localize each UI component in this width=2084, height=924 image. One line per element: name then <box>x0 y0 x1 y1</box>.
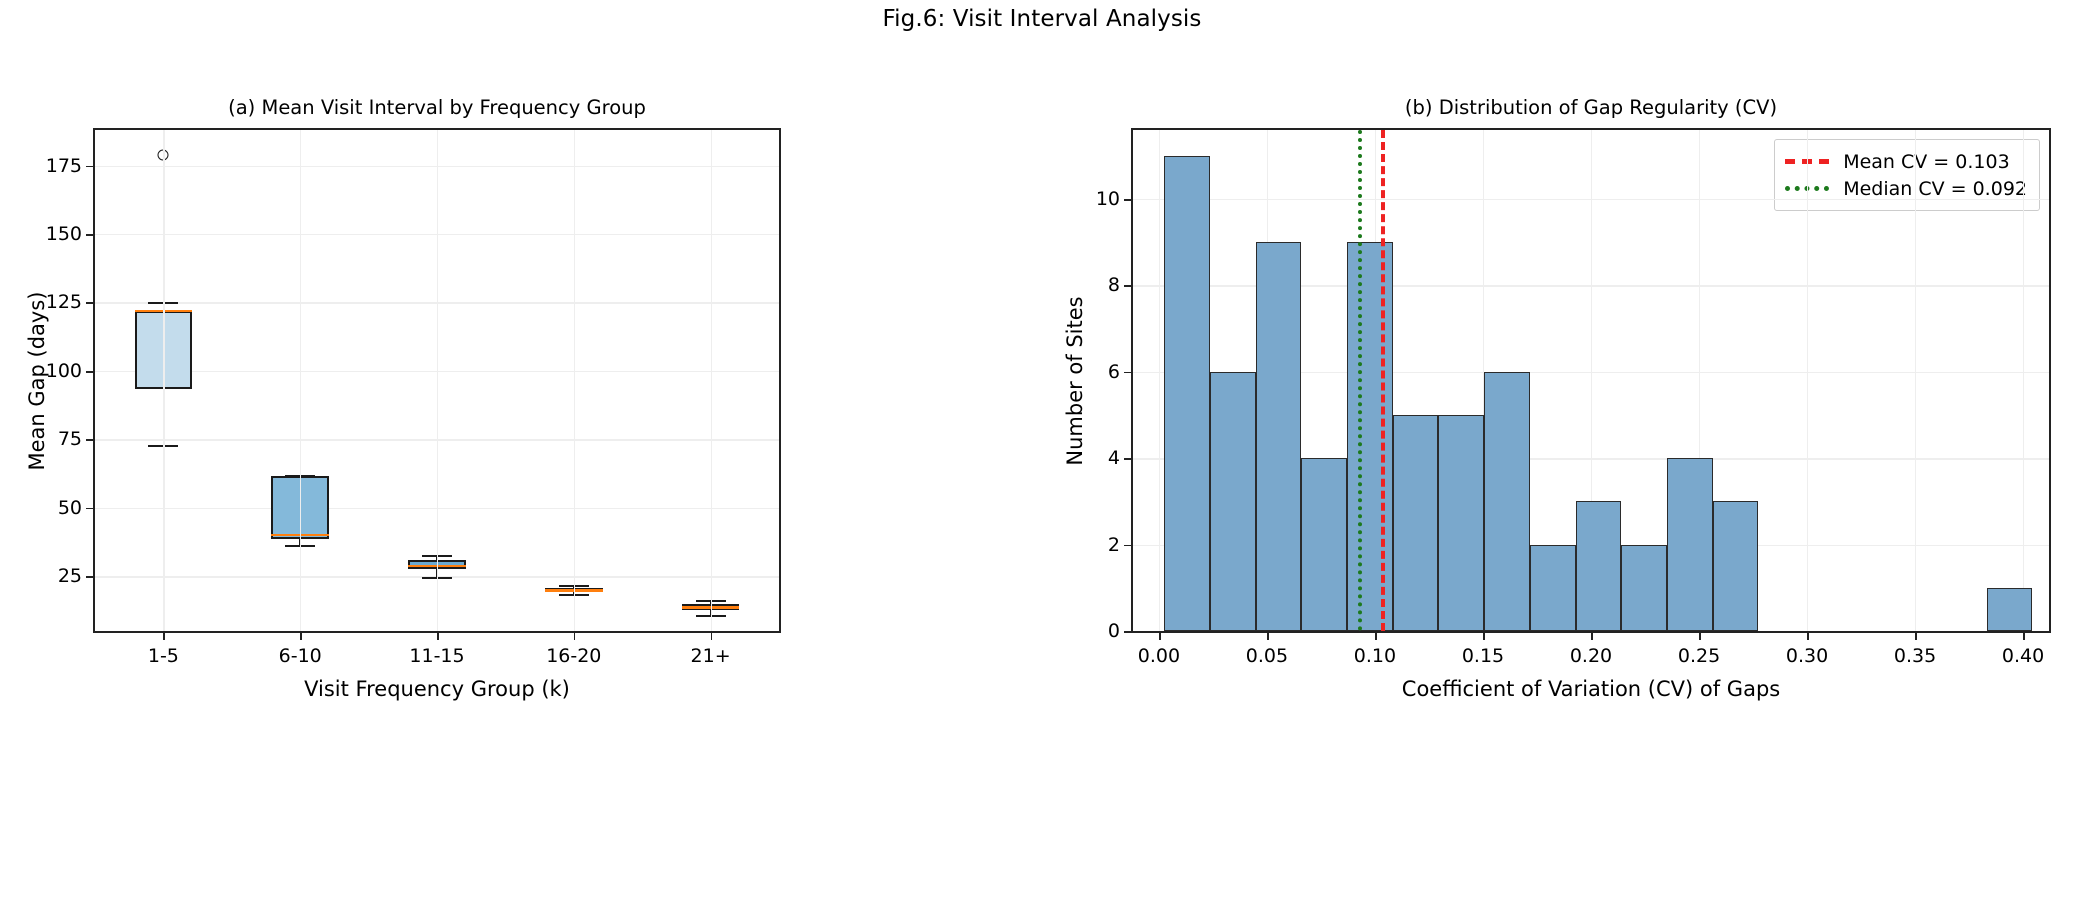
y-tick-mark <box>86 371 93 373</box>
y-tick-mark <box>1124 545 1131 547</box>
y-tick-mark <box>86 576 93 578</box>
legend-entry-label: Median CV = 0.092 <box>1843 178 2027 200</box>
y-tick-label: 125 <box>46 291 82 313</box>
median-cv-line <box>1358 130 1362 631</box>
x-tick-mark <box>1267 633 1269 640</box>
y-tick-label: 8 <box>1108 274 1120 296</box>
gridline-vertical <box>1807 130 1808 631</box>
y-tick-label: 6 <box>1108 361 1120 383</box>
x-tick-label: 0.10 <box>1354 645 1396 667</box>
y-tick-mark <box>86 166 93 168</box>
histogram-bar <box>1256 242 1302 631</box>
y-tick-label: 75 <box>58 428 82 450</box>
legend-entry: Mean CV = 0.103 <box>1785 148 2027 175</box>
x-tick-mark <box>1915 633 1917 640</box>
y-tick-mark <box>86 302 93 304</box>
x-tick-mark <box>300 633 302 640</box>
figure-suptitle: Fig.6: Visit Interval Analysis <box>0 6 2084 32</box>
panel-a-boxplot: (a) Mean Visit Interval by Frequency Gro… <box>93 128 781 633</box>
panel-b-y-axis-label: Number of Sites <box>1063 296 1087 465</box>
panel-b-histogram: (b) Distribution of Gap Regularity (CV) … <box>1131 128 2051 633</box>
x-tick-label: 21+ <box>691 645 731 667</box>
panel-b-x-axis-label: Coefficient of Variation (CV) of Gaps <box>1131 677 2051 701</box>
y-tick-label: 10 <box>1096 188 1120 210</box>
x-tick-label: 0.15 <box>1462 645 1504 667</box>
legend-entry-label: Mean CV = 0.103 <box>1843 151 2009 173</box>
x-tick-mark <box>1699 633 1701 640</box>
histogram-bar <box>1530 545 1576 631</box>
x-tick-mark <box>1375 633 1377 640</box>
gridline-vertical <box>1915 130 1916 631</box>
y-tick-label: 150 <box>46 223 82 245</box>
histogram-bar <box>1347 242 1393 631</box>
x-tick-mark <box>2023 633 2025 640</box>
x-tick-mark <box>574 633 576 640</box>
y-tick-mark <box>1124 372 1131 374</box>
x-tick-mark <box>1807 633 1809 640</box>
gridline-vertical <box>1159 130 1160 631</box>
x-tick-label: 11-15 <box>409 645 464 667</box>
panel-a-plot-area <box>93 128 781 633</box>
legend-entry: Median CV = 0.092 <box>1785 175 2027 202</box>
y-tick-mark <box>1124 199 1131 201</box>
histogram-bar <box>1164 156 1210 631</box>
histogram-bar <box>1484 372 1530 631</box>
gridline-vertical <box>711 130 712 631</box>
x-tick-label: 0.25 <box>1678 645 1720 667</box>
x-tick-mark <box>1159 633 1161 640</box>
histogram-bar <box>1393 415 1439 631</box>
panel-a-x-axis-label: Visit Frequency Group (k) <box>93 677 781 701</box>
y-tick-mark <box>86 234 93 236</box>
histogram-bar <box>1667 458 1713 631</box>
mean-cv-line <box>1381 130 1385 631</box>
x-tick-mark <box>711 633 713 640</box>
y-tick-label: 2 <box>1108 534 1120 556</box>
histogram-bar <box>1576 501 1622 631</box>
gridline-vertical <box>2023 130 2024 631</box>
x-tick-label: 0.35 <box>1894 645 1936 667</box>
y-tick-label: 100 <box>46 360 82 382</box>
panel-b-plot-area: Mean CV = 0.103Median CV = 0.092 <box>1131 128 2051 633</box>
x-tick-mark <box>1591 633 1593 640</box>
y-tick-label: 175 <box>46 155 82 177</box>
histogram-bar <box>1210 372 1256 631</box>
x-tick-label: 0.40 <box>2002 645 2044 667</box>
x-tick-mark <box>1483 633 1485 640</box>
y-tick-label: 0 <box>1108 620 1120 642</box>
boxplot-group <box>95 130 779 631</box>
y-tick-mark <box>86 439 93 441</box>
x-tick-mark <box>163 633 165 640</box>
y-tick-mark <box>1124 631 1131 633</box>
y-tick-label: 50 <box>58 497 82 519</box>
panel-a-title: (a) Mean Visit Interval by Frequency Gro… <box>93 96 781 119</box>
histogram-bar <box>1987 588 2033 631</box>
figure-canvas: Fig.6: Visit Interval Analysis (a) Mean … <box>0 0 2084 924</box>
x-tick-label: 0.05 <box>1246 645 1288 667</box>
y-tick-mark <box>1124 458 1131 460</box>
histogram-bar <box>1301 458 1347 631</box>
panel-b-title: (b) Distribution of Gap Regularity (CV) <box>1131 96 2051 119</box>
x-tick-label: 0.30 <box>1786 645 1828 667</box>
histogram-bar <box>1621 545 1667 631</box>
y-tick-label: 25 <box>58 565 82 587</box>
histogram-bar <box>1713 501 1759 631</box>
x-tick-label: 16-20 <box>546 645 601 667</box>
y-tick-label: 4 <box>1108 447 1120 469</box>
x-tick-label: 6-10 <box>279 645 322 667</box>
y-tick-mark <box>1124 285 1131 287</box>
x-tick-mark <box>437 633 439 640</box>
x-tick-label: 0.00 <box>1138 645 1180 667</box>
histogram-bar <box>1438 415 1484 631</box>
x-tick-label: 1-5 <box>148 645 179 667</box>
y-tick-mark <box>86 508 93 510</box>
x-tick-label: 0.20 <box>1570 645 1612 667</box>
